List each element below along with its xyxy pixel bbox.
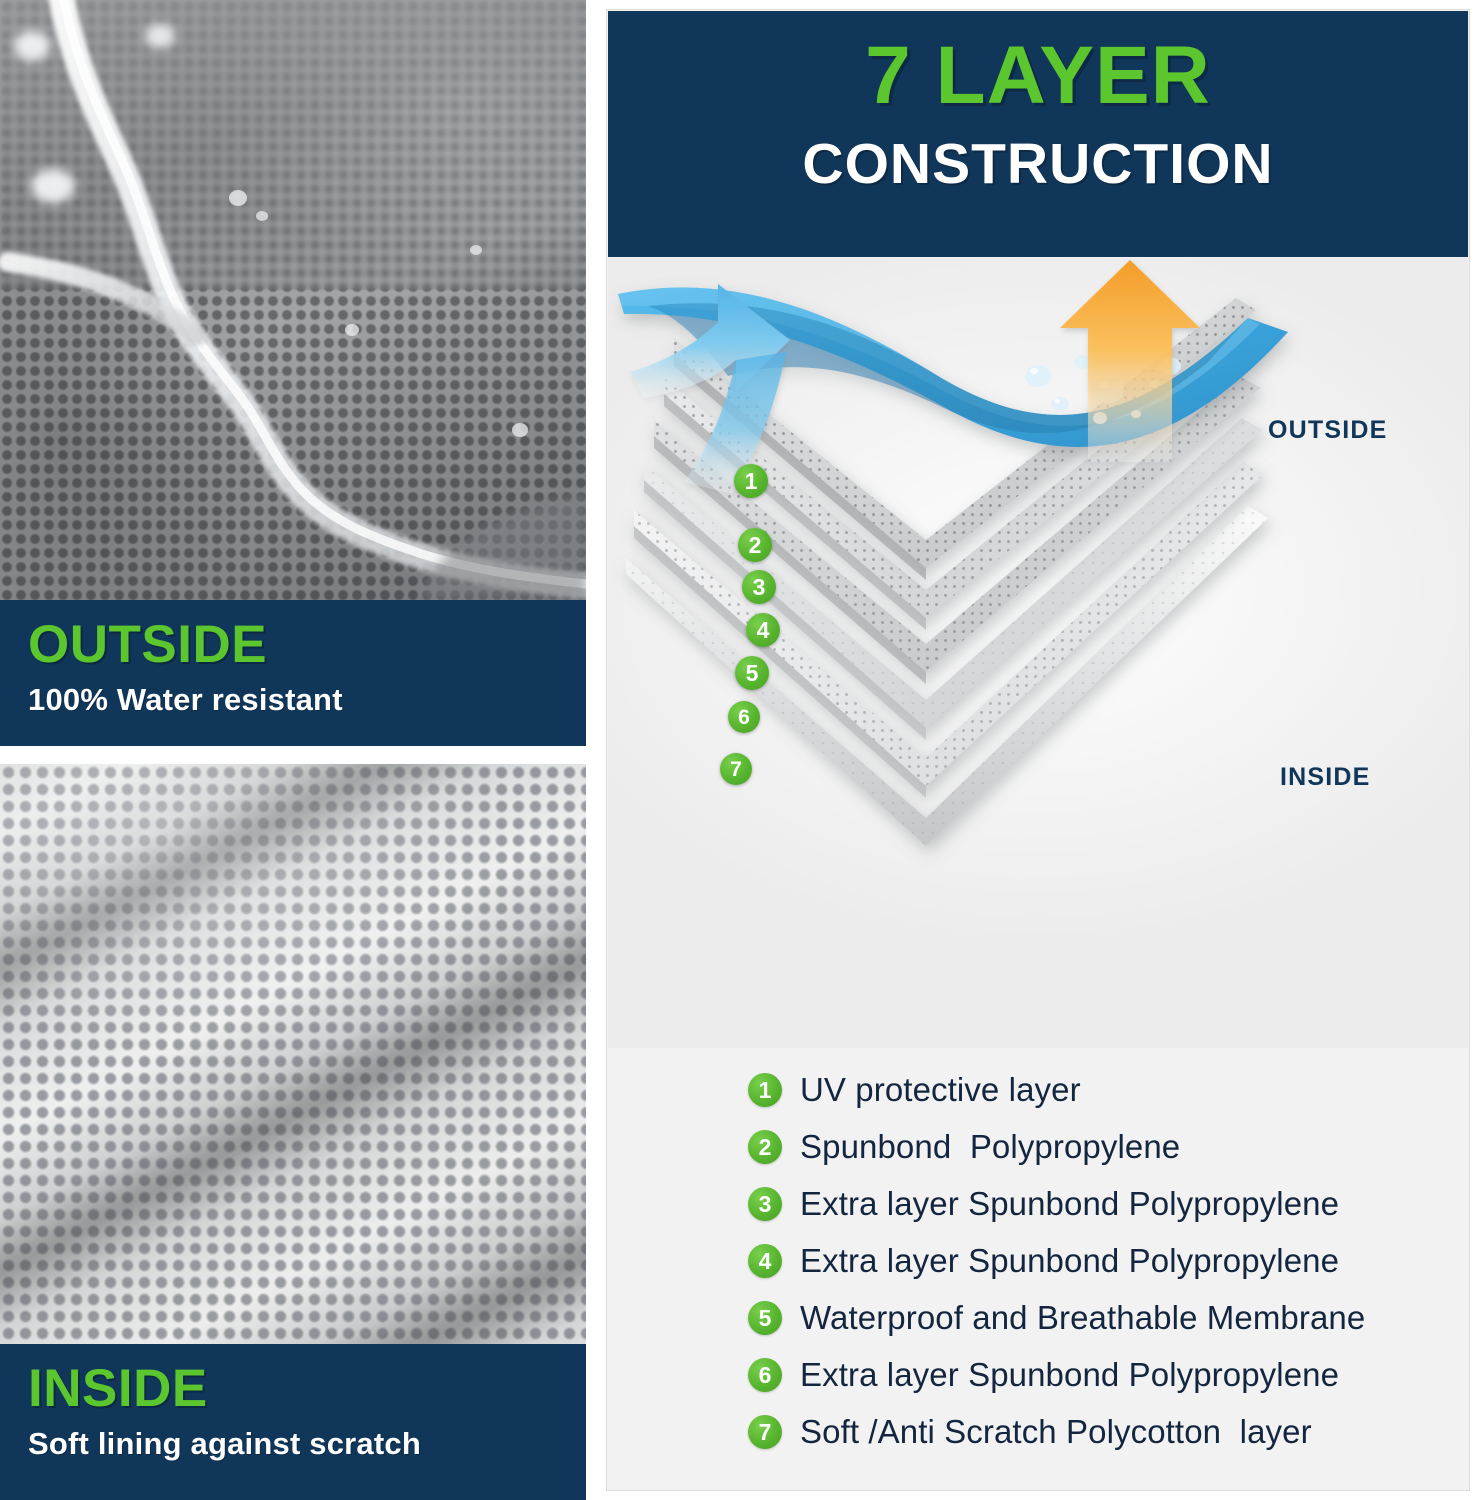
caption-outside-subtitle: 100% Water resistant	[28, 683, 586, 717]
legend-label-7: Soft /Anti Scratch Polycotton layer	[800, 1413, 1312, 1451]
header-title-construction: CONSTRUCTION	[608, 135, 1468, 195]
legend-badge-2: 2	[748, 1130, 782, 1164]
diagram-inside-label: INSIDE	[1280, 763, 1371, 792]
water-droplet-stream	[0, 0, 586, 600]
layer-legend-list: 1 UV protective layer 2 Spunbond Polypro…	[608, 1050, 1468, 1490]
photo-card-outside: OUTSIDE 100% Water resistant	[0, 0, 586, 746]
caption-outside-title: OUTSIDE	[28, 618, 586, 672]
infographic-page: OUTSIDE 100% Water resistant INSIDE Soft…	[0, 0, 1477, 1500]
legend-item-7: 7 Soft /Anti Scratch Polycotton layer	[748, 1410, 1312, 1454]
legend-badge-4: 4	[748, 1244, 782, 1278]
legend-badge-6: 6	[748, 1358, 782, 1392]
diagram-outside-label: OUTSIDE	[1268, 416, 1388, 445]
legend-item-3: 3 Extra layer Spunbond Polypropylene	[748, 1182, 1339, 1226]
layer-badge-3: 3	[742, 570, 776, 604]
legend-item-1: 1 UV protective layer	[748, 1068, 1081, 1112]
legend-item-5: 5 Waterproof and Breathable Membrane	[748, 1296, 1365, 1340]
legend-label-2: Spunbond Polypropylene	[800, 1128, 1180, 1166]
soft-lining-fabric-photo	[0, 764, 586, 1344]
legend-item-2: 2 Spunbond Polypropylene	[748, 1125, 1180, 1169]
caption-inside: INSIDE Soft lining against scratch	[0, 1344, 586, 1500]
layer-badge-2: 2	[738, 528, 772, 562]
layer-badge-6: 6	[728, 701, 760, 733]
legend-label-5: Waterproof and Breathable Membrane	[800, 1299, 1365, 1337]
layer-badge-5: 5	[735, 656, 769, 690]
construction-panel: 7 LAYER CONSTRUCTION	[606, 9, 1470, 1491]
layer-diagram: OUTSIDE INSIDE 1 2 3 4 5 6 7	[608, 258, 1468, 1048]
layer-badge-7: 7	[720, 753, 752, 785]
layer-stack-illustration	[608, 258, 1468, 1048]
legend-label-1: UV protective layer	[800, 1071, 1081, 1109]
left-photo-column: OUTSIDE 100% Water resistant INSIDE Soft…	[0, 0, 586, 1500]
layer-badge-4: 4	[746, 613, 780, 647]
legend-item-4: 4 Extra layer Spunbond Polypropylene	[748, 1239, 1339, 1283]
photo-card-inside: INSIDE Soft lining against scratch	[0, 764, 586, 1500]
legend-badge-3: 3	[748, 1187, 782, 1221]
legend-label-4: Extra layer Spunbond Polypropylene	[800, 1242, 1339, 1280]
caption-inside-subtitle: Soft lining against scratch	[28, 1427, 586, 1461]
legend-badge-7: 7	[748, 1415, 782, 1449]
caption-outside: OUTSIDE 100% Water resistant	[0, 600, 586, 746]
legend-badge-1: 1	[748, 1073, 782, 1107]
legend-badge-5: 5	[748, 1301, 782, 1335]
legend-item-6: 6 Extra layer Spunbond Polypropylene	[748, 1353, 1339, 1397]
legend-label-6: Extra layer Spunbond Polypropylene	[800, 1356, 1339, 1394]
panel-header: 7 LAYER CONSTRUCTION	[608, 11, 1468, 257]
header-title-layers: 7 LAYER	[608, 33, 1468, 119]
water-beading-fabric-photo	[0, 0, 586, 600]
legend-label-3: Extra layer Spunbond Polypropylene	[800, 1185, 1339, 1223]
caption-inside-title: INSIDE	[28, 1362, 586, 1416]
fabric-fold-shading	[0, 764, 586, 1344]
layer-badge-1: 1	[734, 464, 768, 498]
